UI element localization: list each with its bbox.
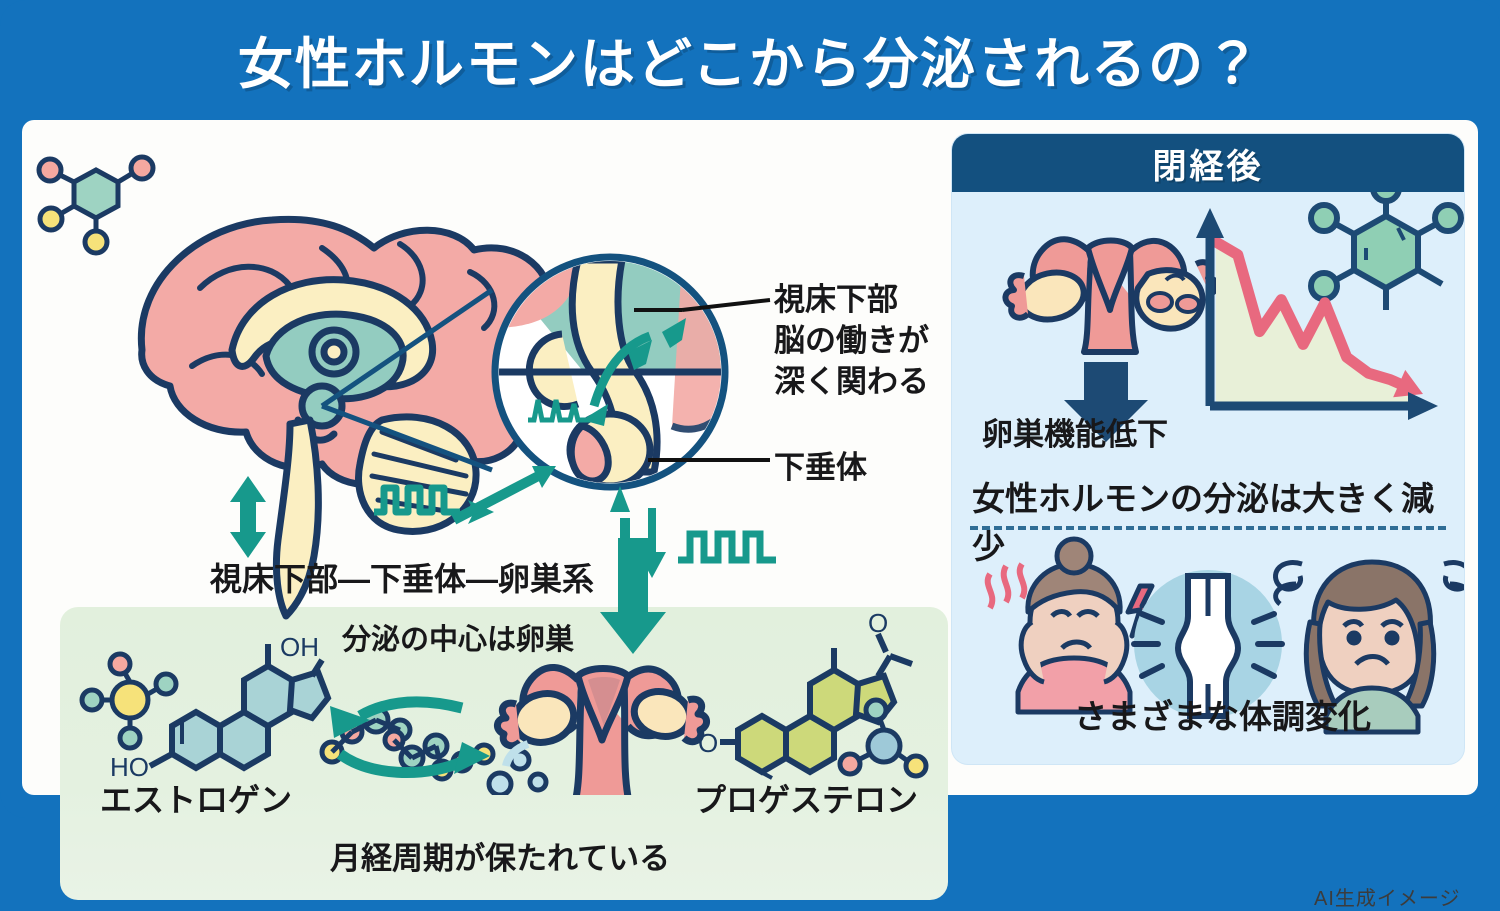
label-hormone-decrease: 女性ホルモンの分泌は大きく減少 [972,472,1464,568]
label-progesterone: プロゲステロン [694,775,918,821]
section-divider [970,526,1446,530]
svg-text:O: O [698,728,718,758]
label-estrogen: エストロゲン [100,775,292,821]
heat-waves-icon [988,564,1025,608]
label-brain-role-line1: 脳の働きが [774,320,929,361]
left-column: OH HO [22,120,942,795]
label-hpo-axis: 視床下部―下垂体―卵巣系 [210,554,594,600]
label-ovary-decline: 卵巣機能低下 [982,409,1168,454]
magnified-brain-circle [492,257,762,487]
molecule-label-o: O [868,608,888,638]
pulse-waveform-icon [374,488,460,512]
label-brain-role: 脳の働きが 深く関わる [774,320,929,402]
postmenopause-panel-header: 閉経後 [952,134,1464,192]
molecule-label-oh: OH [280,632,319,662]
hormone-molecule-icon [1311,192,1461,310]
molecule-icon [39,157,153,253]
header-bar: 女性ホルモンはどこから分泌されるの？ [0,0,1500,118]
content-board: OH HO [22,120,1478,795]
label-secretion-center: 分泌の中心は卵巣 [342,616,574,658]
pulse-waveform-icon-2 [678,534,776,560]
small-molecule-left [82,654,176,748]
infographic-frame: 女性ホルモンはどこから分泌されるの？ [0,0,1500,818]
bidirectional-arrow [230,476,266,558]
image-credit: AI生成イメージ [1314,882,1461,911]
page-title: 女性ホルモンはどこから分泌されるの？ [238,19,1262,99]
aged-uterus-illustration [1005,239,1216,352]
uterus-illustration [497,667,706,795]
label-symptoms: さまざまな体調変化 [1074,690,1371,738]
aged-ovary-right [1136,270,1202,329]
postmenopause-panel: 閉経後 [952,134,1464,764]
label-pituitary: 下垂体 [774,442,867,487]
label-brain-role-line2: 深く関わる [774,361,929,402]
panel-title: 閉経後 [1153,139,1264,188]
label-hypothalamus: 視床下部 [774,280,898,320]
label-menstrual-cycle: 月経周期が保たれている [330,833,670,878]
